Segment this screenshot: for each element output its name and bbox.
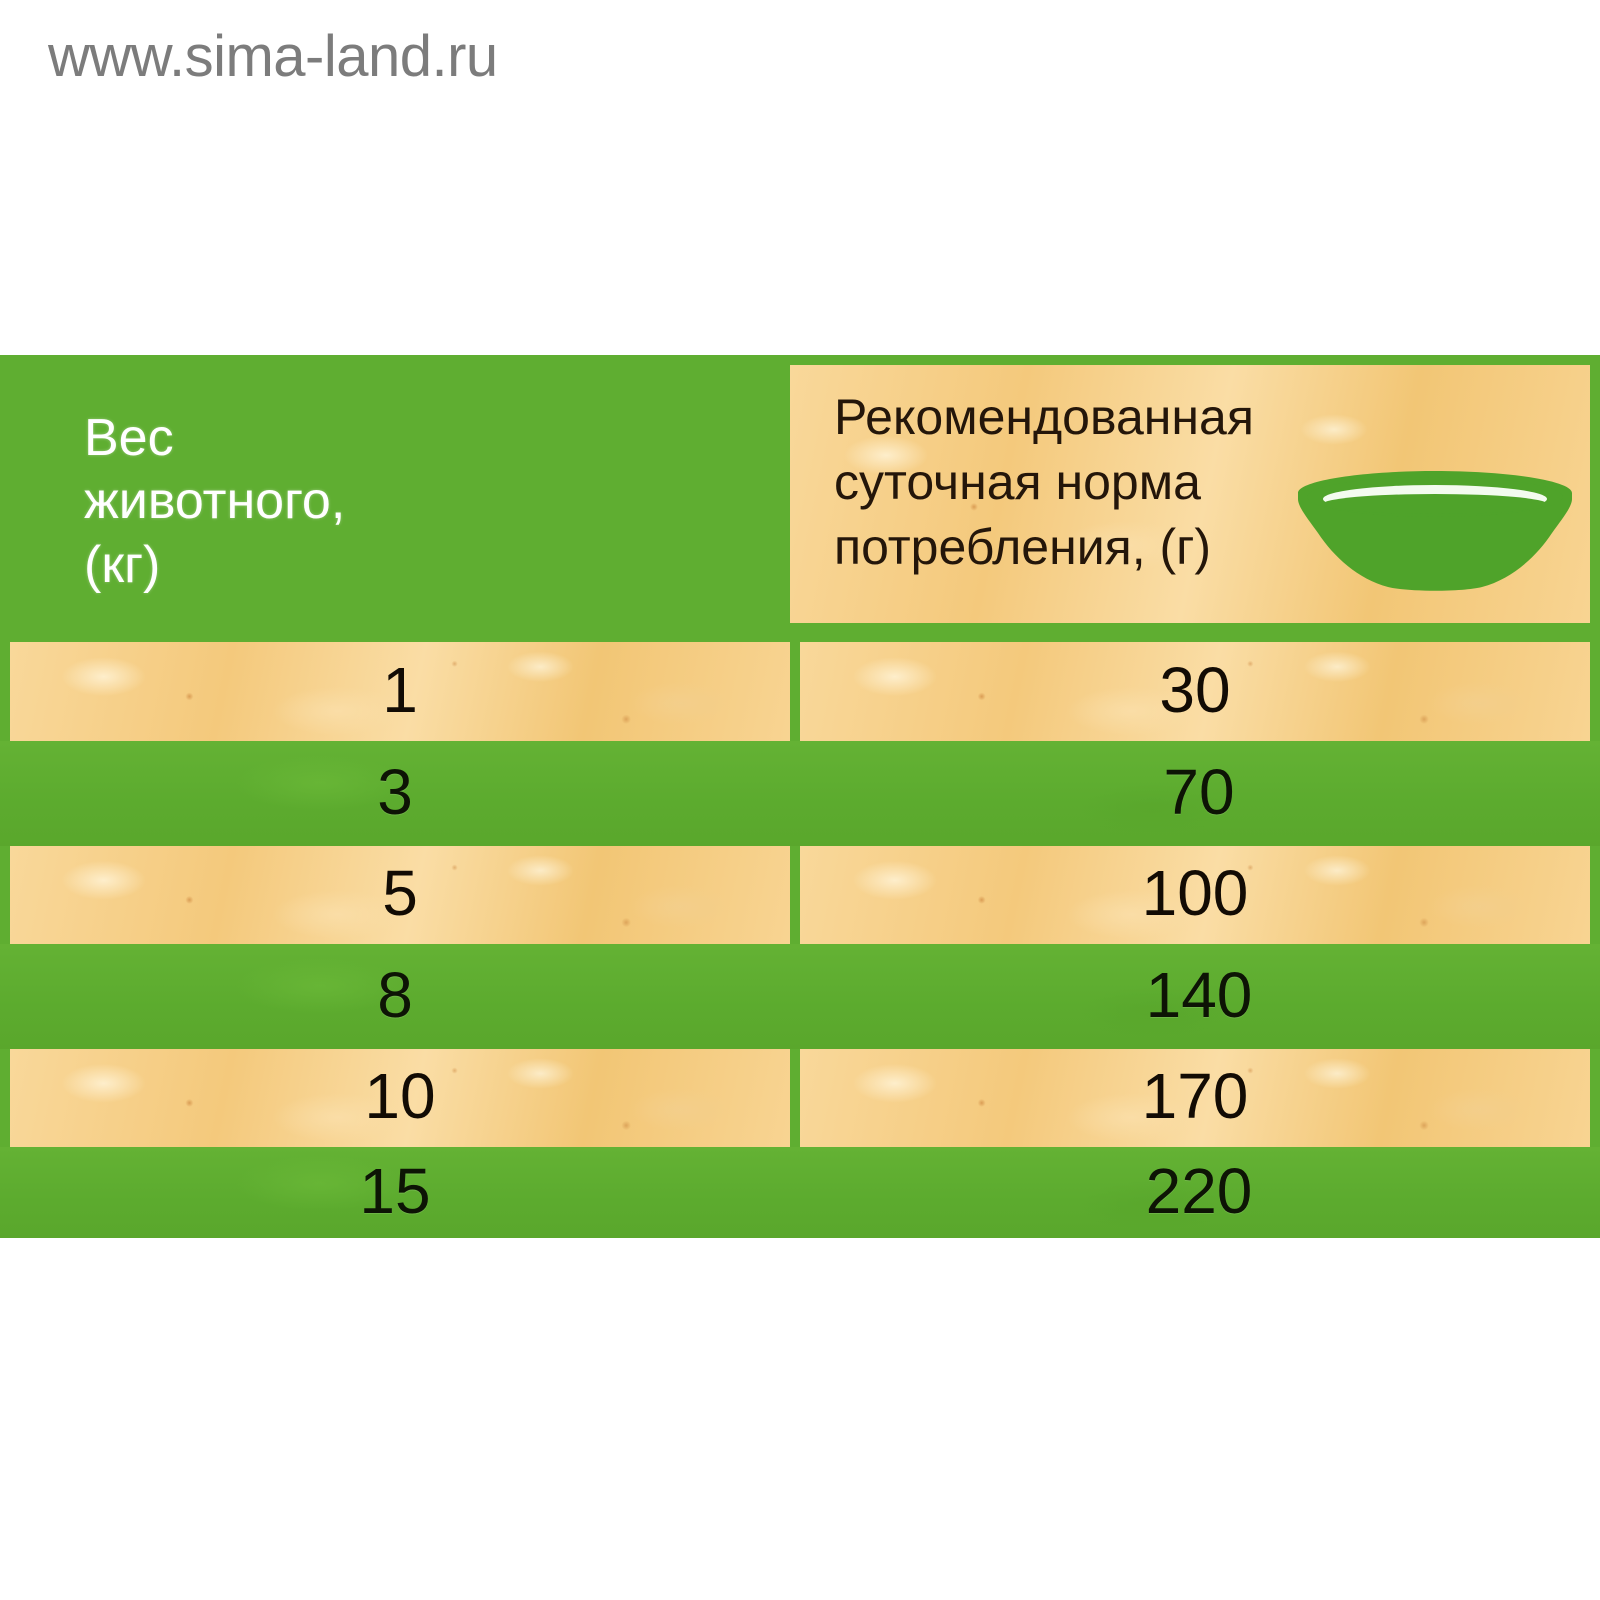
- table-row: 10170: [0, 1049, 1600, 1147]
- column-divider: [790, 846, 800, 944]
- table-header-row: Вес животного, (кг) Рекомендованная суто…: [0, 355, 1600, 632]
- table-row: 8140: [0, 944, 1600, 1049]
- amount-value: 220: [1146, 1159, 1253, 1223]
- cell-amount: 70: [798, 741, 1600, 846]
- table-row: 370: [0, 741, 1600, 846]
- cell-amount: 170: [800, 1049, 1590, 1147]
- weight-value: 3: [377, 760, 413, 824]
- amount-value: 100: [1142, 861, 1249, 925]
- page-root: www.sima-land.ru Вес животного, (кг) Рек…: [0, 0, 1600, 1600]
- header-weight-label: Вес животного, (кг): [84, 407, 524, 597]
- cell-weight: 10: [10, 1049, 790, 1147]
- weight-value: 1: [382, 658, 418, 722]
- column-divider: [790, 1049, 800, 1147]
- header-divider: [0, 632, 1600, 642]
- amount-value: 170: [1142, 1064, 1249, 1128]
- cell-amount: 30: [800, 642, 1590, 741]
- table-row: 5100: [0, 846, 1600, 944]
- cell-amount: 100: [800, 846, 1590, 944]
- watermark-sima-land: www.sima-land.ru: [48, 28, 498, 86]
- cell-weight: 3: [0, 741, 790, 846]
- table-row: 130: [0, 642, 1600, 741]
- cell-weight: 15: [0, 1147, 790, 1238]
- header-amount-label: Рекомендованная суточная норма потреблен…: [834, 385, 1274, 580]
- weight-value: 5: [382, 861, 418, 925]
- feeding-table: Вес животного, (кг) Рекомендованная суто…: [0, 355, 1600, 1238]
- cell-amount: 220: [798, 1147, 1600, 1238]
- table-header-weight-cell: Вес животного, (кг): [0, 355, 780, 632]
- column-divider: [790, 642, 800, 741]
- weight-value: 15: [359, 1159, 430, 1223]
- table-row: 15220: [0, 1147, 1600, 1238]
- cell-weight: 1: [10, 642, 790, 741]
- cell-amount: 140: [798, 944, 1600, 1049]
- weight-value: 8: [377, 963, 413, 1027]
- weight-value: 10: [364, 1064, 435, 1128]
- table-header-amount-cell: Рекомендованная суточная норма потреблен…: [790, 365, 1590, 623]
- amount-value: 30: [1159, 658, 1230, 722]
- amount-value: 140: [1146, 963, 1253, 1027]
- cell-weight: 8: [0, 944, 790, 1049]
- amount-value: 70: [1163, 760, 1234, 824]
- cell-weight: 5: [10, 846, 790, 944]
- bowl-icon: [1290, 463, 1580, 593]
